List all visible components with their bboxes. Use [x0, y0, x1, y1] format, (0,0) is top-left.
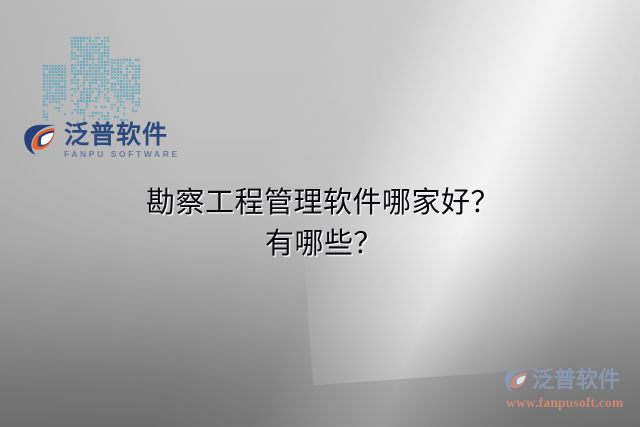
- watermark-url: www.fanpusoft.com: [506, 395, 637, 411]
- fanpu-logo-icon: [22, 122, 58, 158]
- promotional-banner: 泛普软件 FANPU SOFTWARE 勘察工程管理软件哪家好？ 有哪些？ 泛普…: [0, 0, 640, 427]
- brand-wordmark: 泛普软件 FANPU SOFTWARE: [64, 122, 180, 159]
- watermark-brand-row: 泛普软件: [503, 368, 637, 394]
- fanpu-watermark-logo-icon: [503, 368, 529, 394]
- watermark-brand-name: 泛普软件: [532, 370, 620, 392]
- brand-logo: 泛普软件 FANPU SOFTWARE: [22, 122, 180, 159]
- page-title-line-2: 有哪些？: [0, 223, 640, 264]
- page-title: 勘察工程管理软件哪家好？ 有哪些？: [0, 182, 640, 264]
- brand-name-cn: 泛普软件: [64, 122, 180, 148]
- page-title-line-1: 勘察工程管理软件哪家好？: [0, 182, 640, 223]
- pixel-buildings-icon: [40, 33, 148, 125]
- watermark: 泛普软件 www.fanpusoft.com: [503, 368, 637, 411]
- brand-name-en: FANPU SOFTWARE: [64, 150, 180, 159]
